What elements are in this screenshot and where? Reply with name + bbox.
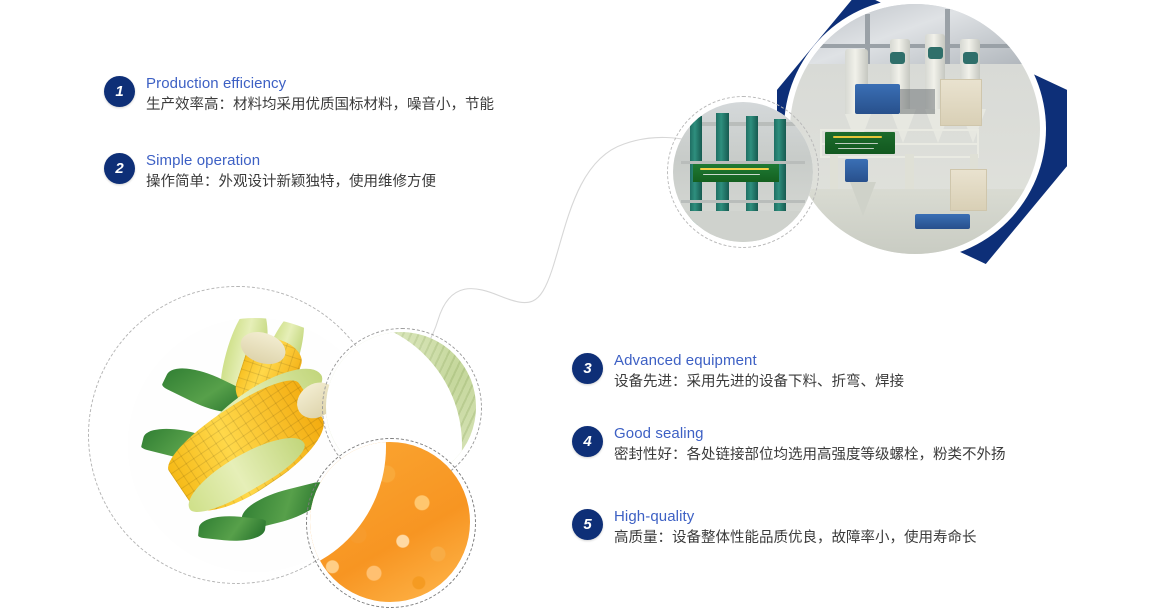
feature-number-badge: 3	[572, 353, 603, 384]
corn-grits-photo	[310, 442, 470, 602]
green-machine-photo	[673, 102, 813, 242]
feature-description: 生产效率高：材料均采用优质国标材料，噪音小，节能	[146, 95, 494, 116]
factory-banner	[825, 132, 895, 155]
infographic-stage: 1 Production efficiency 生产效率高：材料均采用优质国标材…	[0, 0, 1154, 591]
feature-item-2[interactable]: 2 Simple operation 操作简单：外观设计新颖独特，使用维修方便	[104, 152, 436, 193]
feature-description: 高质量：设备整体性能品质优良，故障率小，使用寿命长	[614, 528, 977, 549]
feature-number-badge: 1	[104, 76, 135, 107]
feature-item-3[interactable]: 3 Advanced equipment 设备先进：采用先进的设备下料、折弯、焊…	[572, 352, 904, 393]
hero-image-group	[662, 0, 1062, 270]
feature-number-badge: 4	[572, 426, 603, 457]
feature-description: 密封性好：各处链接部位均选用高强度等级螺栓，粉类不外扬	[614, 445, 1006, 466]
feature-description: 操作简单：外观设计新颖独特，使用维修方便	[146, 172, 436, 193]
milling-plant-photo	[790, 4, 1040, 254]
feature-heading: High-quality	[614, 508, 977, 526]
feature-heading: Advanced equipment	[614, 352, 904, 370]
feature-heading: Good sealing	[614, 425, 1006, 443]
feature-number-badge: 5	[572, 509, 603, 540]
feature-item-1[interactable]: 1 Production efficiency 生产效率高：材料均采用优质国标材…	[104, 75, 494, 116]
feature-description: 设备先进：采用先进的设备下料、折弯、焊接	[614, 372, 904, 393]
feature-heading: Production efficiency	[146, 75, 494, 93]
feature-number-badge: 2	[104, 153, 135, 184]
feature-heading: Simple operation	[146, 152, 436, 170]
feature-item-4[interactable]: 4 Good sealing 密封性好：各处链接部位均选用高强度等级螺栓，粉类不…	[572, 425, 1006, 466]
product-image-cluster	[88, 286, 488, 591]
feature-item-5[interactable]: 5 High-quality 高质量：设备整体性能品质优良，故障率小，使用寿命长	[572, 508, 977, 549]
